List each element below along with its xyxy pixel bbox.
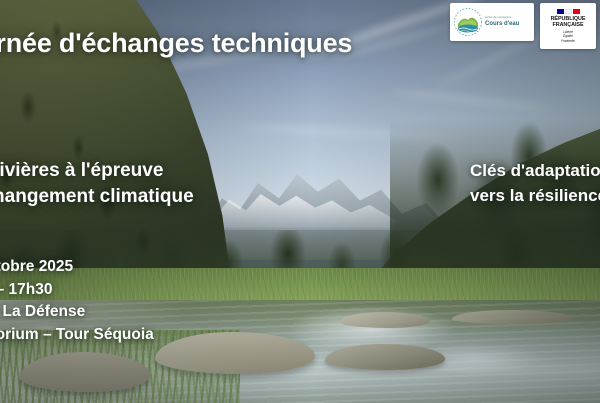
banner-subtitle-line-2: du changement climatique [0,184,374,210]
logo-group: centre de ressources Cours d'eau RÉPUBLI… [450,3,596,49]
event-city: Paris, La Défense [0,301,356,324]
french-flag-icon [557,9,580,14]
banner-tagline-line-2: vers la résilience [470,183,600,208]
logo-republique-francaise: RÉPUBLIQUE FRANÇAISE Liberté Égalité Fra… [540,3,596,49]
river-mountain-roundel-icon [453,7,483,37]
flag-blue-band [557,9,564,14]
event-venue: Auditorium – Tour Séquoia [0,324,356,347]
flag-red-band [573,9,580,14]
banner-subtitle-line-1: Les rivières à l'épreuve [0,158,374,184]
flag-white-band [565,9,572,14]
banner-content: Journée d'échanges techniques Les rivièr… [0,0,600,403]
logo-centre-ressources-title: Cours d'eau [485,21,519,27]
rf-name-line-2: FRANÇAISE [553,22,584,28]
rf-motto-fraternite: Fraternité [561,39,575,43]
banner-title: Journée d'échanges techniques [0,28,468,59]
logo-centre-ressources-kicker: centre de ressources [485,17,519,20]
event-date: 14 octobre 2025 [0,256,356,279]
logo-centre-ressources-cours-deau: centre de ressources Cours d'eau [450,3,534,41]
banner-tagline-line-1: Clés d'adaptation [470,158,600,183]
event-banner: centre de ressources Cours d'eau RÉPUBLI… [0,0,600,403]
event-time: 9h00 – 17h30 [0,279,356,302]
banner-subtitle: Les rivières à l'épreuve du changement c… [0,158,374,210]
event-details: 14 octobre 2025 9h00 – 17h30 Paris, La D… [0,256,356,346]
banner-tagline: Clés d'adaptation vers la résilience [470,158,600,208]
